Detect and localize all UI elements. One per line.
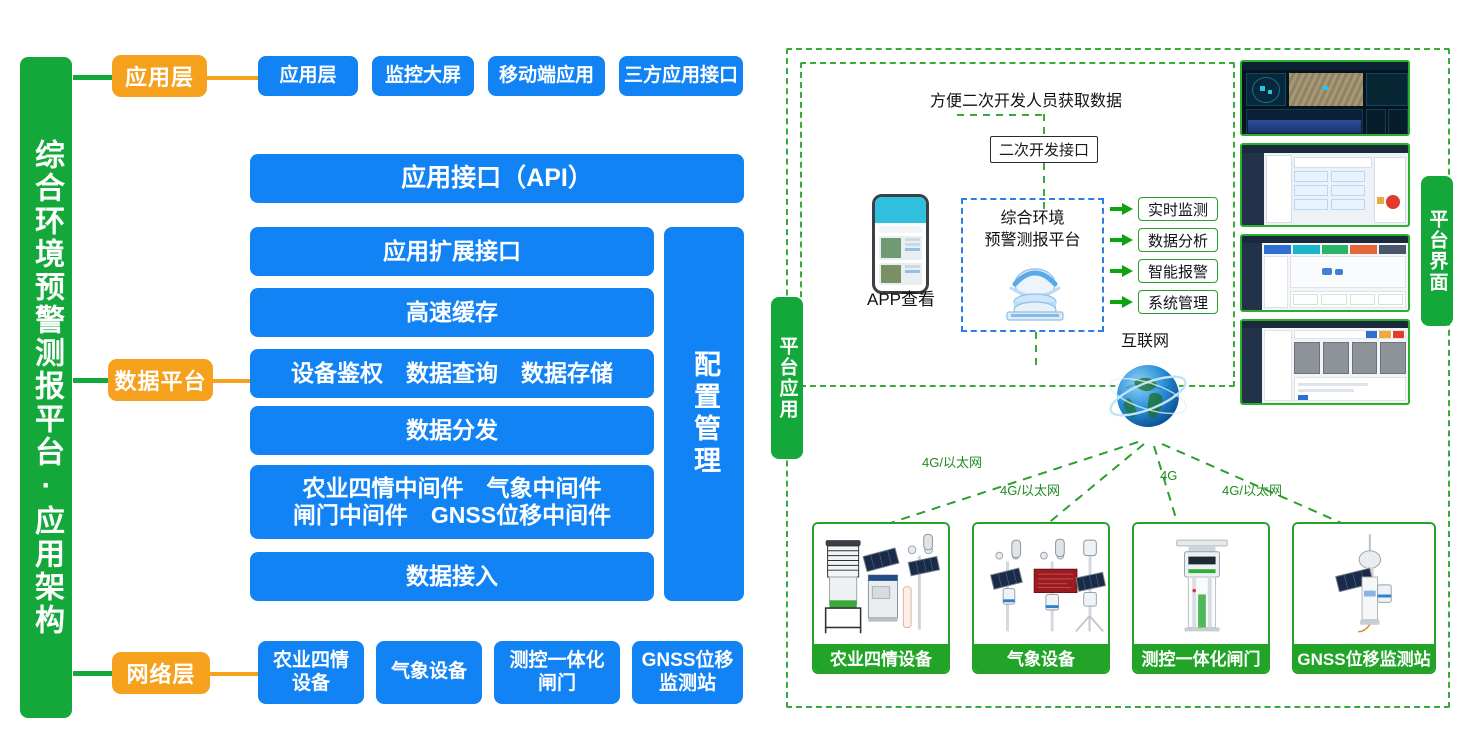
function-arrow-analysis xyxy=(1110,234,1133,246)
device-caption-weather: 气象设备 xyxy=(974,644,1108,672)
function-arrow-realtime xyxy=(1110,203,1133,215)
device-card-weather[interactable]: 气象设备 xyxy=(972,522,1110,674)
function-box-smart-alarm[interactable]: 智能报警 xyxy=(1138,259,1218,283)
platform-to-internet-connector xyxy=(1035,332,1037,370)
app-view-caption: APP查看 xyxy=(860,286,942,308)
function-box-data-analysis[interactable]: 数据分析 xyxy=(1138,228,1218,252)
function-arrow-system xyxy=(1110,296,1133,308)
screenshot-camera-grid[interactable] xyxy=(1240,319,1410,405)
device-caption-agri: 农业四情设备 xyxy=(814,644,948,672)
function-arrow-alarm xyxy=(1110,265,1133,277)
function-box-realtime-monitoring[interactable]: 实时监测 xyxy=(1138,197,1218,221)
cloud-platform-icon xyxy=(997,254,1073,326)
layer-pill-data-platform[interactable]: 数据平台 xyxy=(108,359,213,401)
secondary-dev-note: 方便二次开发人员获取数据 xyxy=(930,87,1122,111)
connector-network-layer-to-boxes xyxy=(205,672,265,676)
net-box-integrated-gate[interactable]: 测控一体化 闸门 xyxy=(494,641,620,704)
net-box-gnss-station[interactable]: GNSS位移 监测站 xyxy=(632,641,743,704)
mobile-phone-mockup xyxy=(872,194,929,294)
connector-spine-to-app-layer xyxy=(73,75,113,80)
network-label-3: 4G xyxy=(1160,468,1177,483)
device-image-gate xyxy=(1134,524,1268,644)
network-label-4: 4G/以太网 xyxy=(1222,480,1282,499)
api-box[interactable]: 应用接口（API） xyxy=(250,154,744,203)
network-label-2: 4G/以太网 xyxy=(1000,480,1060,499)
device-card-agri[interactable]: 农业四情设备 xyxy=(812,522,950,674)
data-box-auth-query-storage[interactable]: 设备鉴权 数据查询 数据存储 xyxy=(250,349,654,398)
device-image-agri xyxy=(814,524,948,644)
net-box-label-line2: 设备 xyxy=(292,673,330,695)
device-card-gnss[interactable]: GNSS位移监测站 xyxy=(1292,522,1436,674)
app-box-monitoring-wall[interactable]: 监控大屏 xyxy=(372,56,474,96)
net-box-agri-four-conditions[interactable]: 农业四情 设备 xyxy=(258,641,364,704)
device-caption-gnss: GNSS位移监测站 xyxy=(1294,644,1434,672)
middleware-line-2: 闸门中间件 GNSS位移中间件 xyxy=(293,502,611,529)
platform-core-box: 综合环境 预警测报平台 xyxy=(961,198,1104,332)
data-box-cache[interactable]: 高速缓存 xyxy=(250,288,654,337)
layer-pill-network[interactable]: 网络层 xyxy=(112,652,210,694)
device-card-gate[interactable]: 测控一体化闸门 xyxy=(1132,522,1270,674)
config-management-box[interactable]: 配置管理 xyxy=(664,227,744,601)
architecture-spine-label: 综合环境预警测报平台·应用架构 xyxy=(20,57,72,718)
layer-pill-application[interactable]: 应用层 xyxy=(112,55,207,97)
connector-spine-to-network-layer xyxy=(73,671,113,676)
middleware-line-1: 农业四情中间件 气象中间件 xyxy=(303,475,602,502)
app-box-mobile-app[interactable]: 移动端应用 xyxy=(488,56,605,96)
data-box-data-distribution[interactable]: 数据分发 xyxy=(250,406,654,455)
net-box-label-line2: 监测站 xyxy=(659,673,716,695)
data-box-data-ingest[interactable]: 数据接入 xyxy=(250,552,654,601)
data-box-middleware[interactable]: 农业四情中间件 气象中间件 闸门中间件 GNSS位移中间件 xyxy=(250,465,654,539)
screenshot-monitoring-dashboard[interactable] xyxy=(1240,60,1410,136)
vertical-label-platform-ui: 平台界面 xyxy=(1421,176,1453,326)
app-box-application-layer[interactable]: 应用层 xyxy=(258,56,358,96)
net-box-label-line2: 闸门 xyxy=(538,673,576,695)
device-caption-gate: 测控一体化闸门 xyxy=(1134,644,1268,672)
connector-spine-to-data-platform xyxy=(73,378,113,383)
net-box-label-line1: 农业四情 xyxy=(273,650,349,672)
network-links xyxy=(786,420,1450,530)
device-image-weather xyxy=(974,524,1108,644)
screenshot-map-station-list[interactable] xyxy=(1240,234,1410,312)
platform-title: 综合环境 预警测报平台 xyxy=(963,200,1102,251)
data-box-app-extension-api[interactable]: 应用扩展接口 xyxy=(250,227,654,276)
net-box-label-line1: 测控一体化 xyxy=(509,650,604,672)
net-box-label-line1: GNSS位移 xyxy=(642,650,734,672)
secondary-development-interface-box[interactable]: 二次开发接口 xyxy=(990,136,1098,163)
architecture-diagram: 综合环境预警测报平台·应用架构 应用层 数据平台 网络层 应用层 监控大屏 移动… xyxy=(0,0,1476,750)
connector-app-layer-to-boxes xyxy=(205,76,265,80)
internet-label: 互联网 xyxy=(1117,329,1173,349)
app-box-third-party-api[interactable]: 三方应用接口 xyxy=(619,56,743,96)
device-image-gnss xyxy=(1294,524,1434,644)
network-label-1: 4G/以太网 xyxy=(922,452,982,471)
net-box-weather-device[interactable]: 气象设备 xyxy=(376,641,482,704)
platform-title-line-2: 预警测报平台 xyxy=(984,230,1080,252)
function-box-system-management[interactable]: 系统管理 xyxy=(1138,290,1218,314)
platform-title-line-1: 综合环境 xyxy=(1000,208,1064,230)
screenshot-device-console[interactable] xyxy=(1240,143,1410,227)
dev-note-connector xyxy=(957,114,1045,116)
